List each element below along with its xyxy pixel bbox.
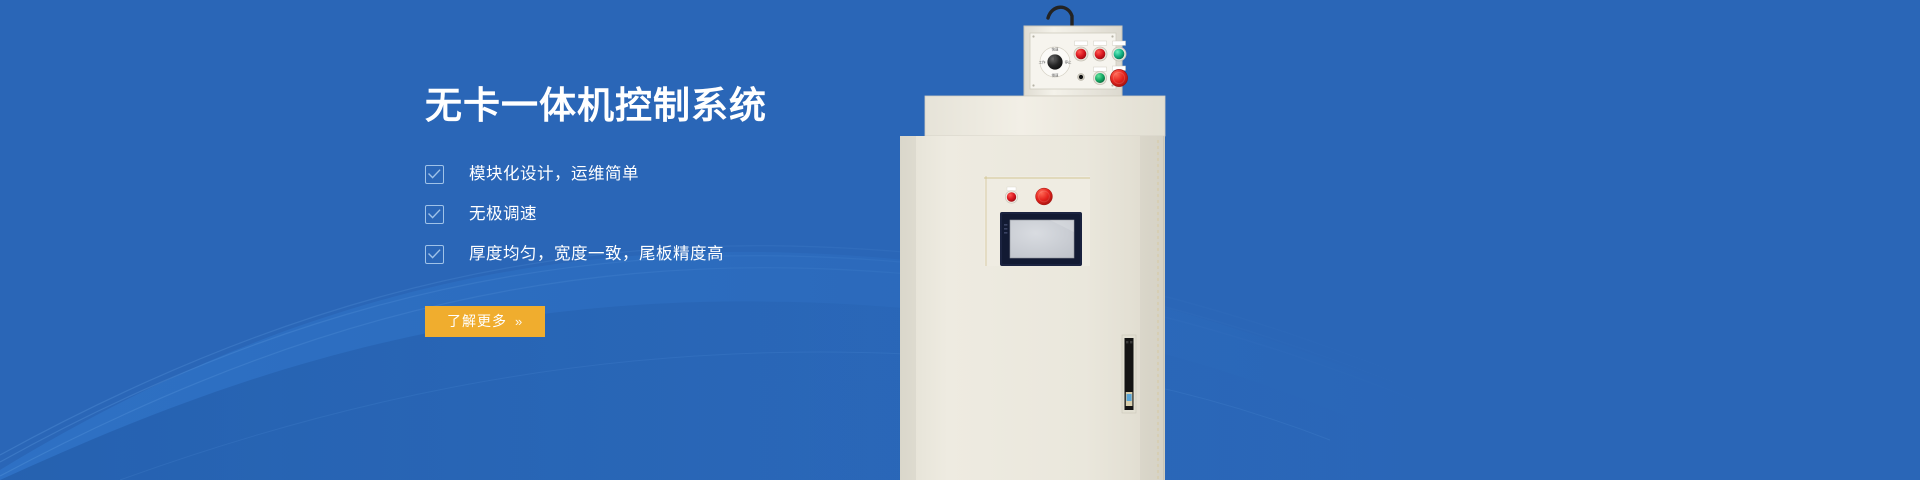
svg-text:停止: 停止 xyxy=(1065,59,1072,64)
checkbox-checked-icon xyxy=(425,205,444,224)
hero-content: 无卡一体机控制系统 模块化设计，运维简单 无极调速 xyxy=(425,86,985,337)
svg-text:工作: 工作 xyxy=(1039,59,1046,64)
svg-text:慢速: 慢速 xyxy=(1052,73,1059,78)
list-item: 无极调速 xyxy=(425,205,985,224)
learn-more-label: 了解更多 xyxy=(447,311,507,331)
list-item: 模块化设计，运维简单 xyxy=(425,165,985,184)
feature-label: 厚度均匀，宽度一致，尾板精度高 xyxy=(469,246,724,263)
chevron-right-icon: » xyxy=(515,314,523,329)
checkbox-checked-icon xyxy=(425,245,444,264)
learn-more-button[interactable]: 了解更多 » xyxy=(425,306,545,337)
checkbox-checked-icon xyxy=(425,165,444,184)
feature-list: 模块化设计，运维简单 无极调速 厚度均匀，宽度一致，尾板精度高 xyxy=(425,165,985,264)
list-item: 厚度均匀，宽度一致，尾板精度高 xyxy=(425,245,985,264)
feature-label: 无极调速 xyxy=(469,206,537,223)
page-title: 无卡一体机控制系统 xyxy=(425,86,985,127)
hero-banner: 无卡一体机控制系统 模块化设计，运维简单 无极调速 xyxy=(0,0,1920,480)
feature-label: 模块化设计，运维简单 xyxy=(469,166,639,183)
svg-text:快速: 快速 xyxy=(1052,47,1059,52)
